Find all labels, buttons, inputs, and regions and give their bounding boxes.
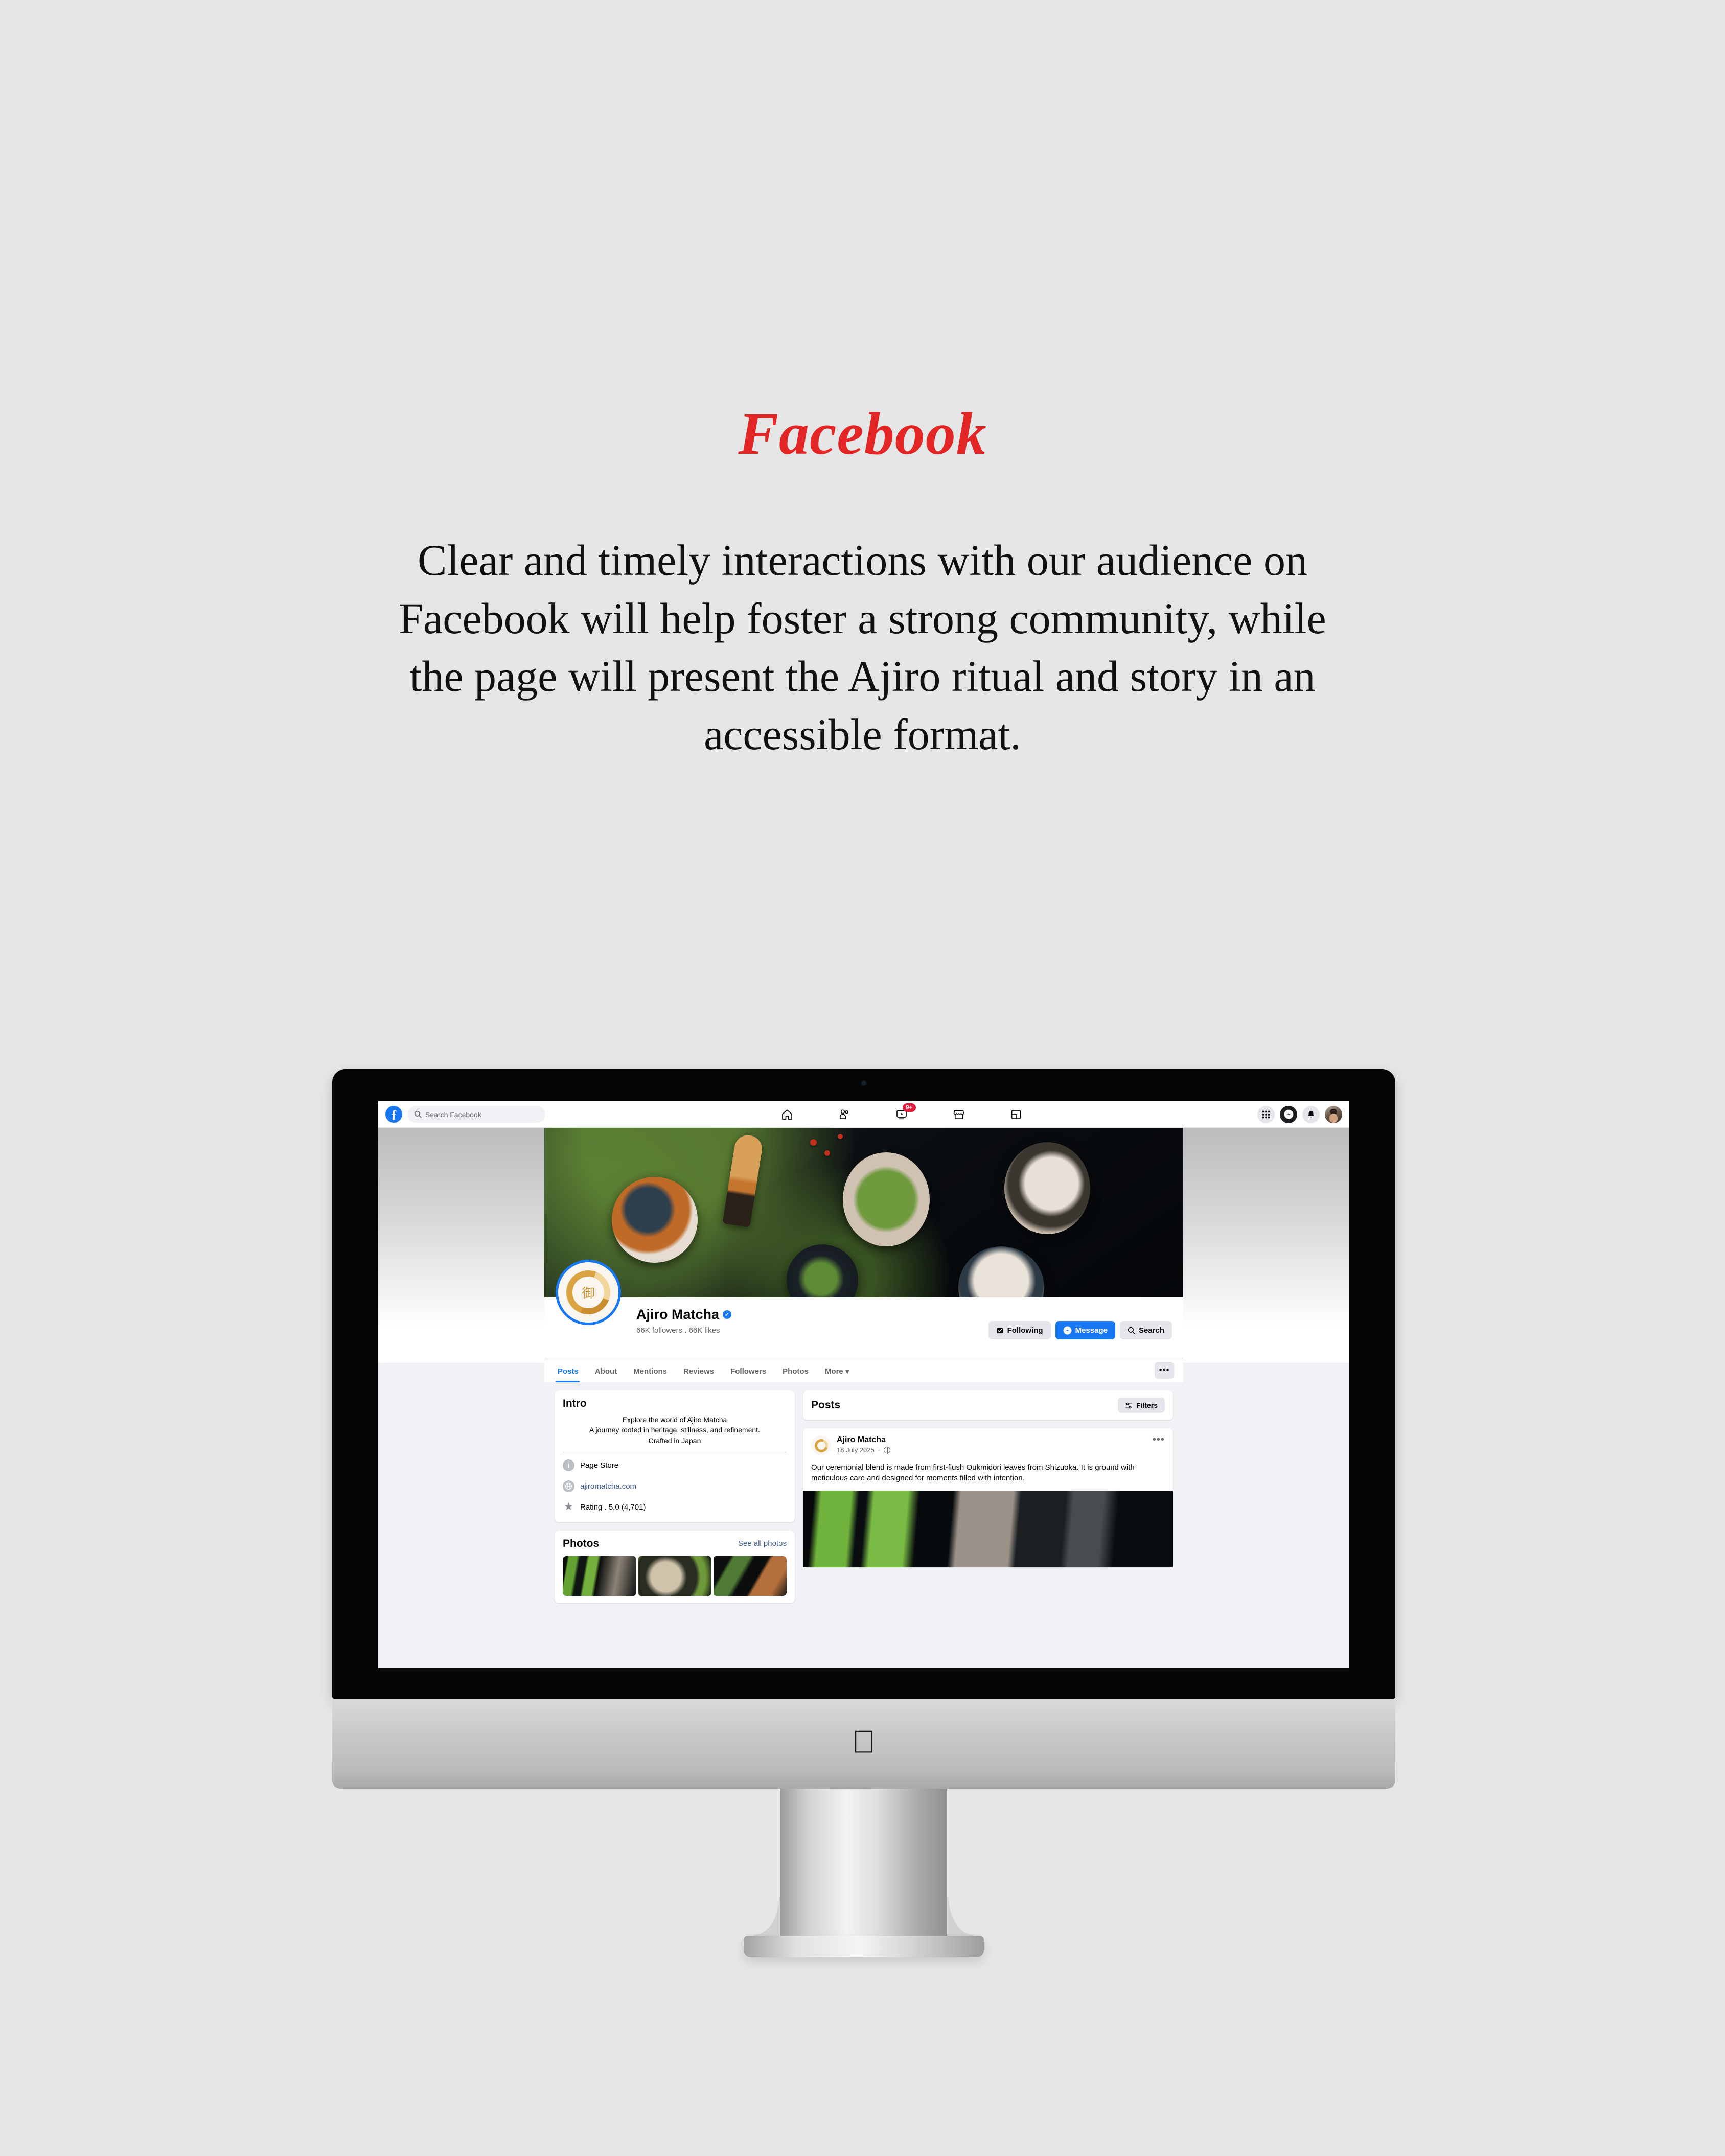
- cover-bowl: [612, 1177, 698, 1263]
- post-body-text: Our ceremonial blend is made from first-…: [811, 1462, 1165, 1484]
- nav-right-icons: [1257, 1106, 1342, 1123]
- intro-desc-line-2: A journey rooted in heritage, stillness,…: [563, 1425, 787, 1435]
- post-author-avatar[interactable]: [811, 1435, 831, 1455]
- marketplace-icon: [953, 1108, 965, 1121]
- tab-more[interactable]: More ▾: [817, 1366, 858, 1382]
- nav-groups-icon[interactable]: [1007, 1106, 1025, 1123]
- messenger-icon: [1063, 1326, 1072, 1335]
- tab-posts[interactable]: Posts: [556, 1367, 587, 1382]
- cover-bowl: [1004, 1142, 1090, 1234]
- check-badge-icon: [996, 1327, 1004, 1334]
- cover-photo[interactable]: [544, 1128, 1183, 1297]
- post-author-name[interactable]: Ajiro Matcha: [837, 1435, 890, 1445]
- following-button-label: Following: [1007, 1326, 1043, 1335]
- profile-actions: Following Message: [988, 1321, 1172, 1339]
- search-icon: [414, 1110, 422, 1118]
- page-columns: Intro Explore the world of Ajiro Matcha …: [544, 1382, 1183, 1611]
- post-meta: 18 July 2025 ·: [837, 1446, 890, 1454]
- left-column: Intro Explore the world of Ajiro Matcha …: [555, 1390, 795, 1611]
- intro-desc-line-3: Crafted in Japan: [563, 1435, 787, 1446]
- facebook-logo-icon[interactable]: f: [385, 1106, 402, 1123]
- photos-card: Photos See all photos: [555, 1531, 795, 1603]
- imac-mockup: f Search Facebook: [332, 1069, 1395, 1957]
- star-icon: ★: [563, 1501, 574, 1513]
- website-link[interactable]: ajiromatcha.com: [580, 1482, 636, 1491]
- search-page-button-label: Search: [1139, 1326, 1164, 1335]
- right-column: Posts Filte: [803, 1390, 1173, 1611]
- bell-icon: [1306, 1110, 1316, 1119]
- cover-berry: [838, 1134, 843, 1139]
- notifications-bell-icon[interactable]: [1302, 1106, 1320, 1123]
- photos-title: Photos: [563, 1538, 599, 1550]
- groups-icon: [1010, 1108, 1022, 1121]
- search-icon: [1128, 1327, 1135, 1334]
- nav-home-icon[interactable]: [778, 1106, 796, 1123]
- followers-likes-stats: 66K followers . 66K likes: [636, 1326, 731, 1335]
- imac-stand-base: [744, 1936, 984, 1957]
- body-copy-section: Clear and timely interactions with our a…: [382, 531, 1343, 763]
- verified-badge-icon: ✓: [723, 1310, 731, 1319]
- intro-page-store-text: Page Store: [580, 1461, 618, 1470]
- facebook-top-nav: f Search Facebook: [378, 1101, 1349, 1128]
- filters-button[interactable]: Filters: [1118, 1398, 1165, 1413]
- video-unread-badge: 9+: [903, 1103, 916, 1112]
- post-menu-ellipsis-icon[interactable]: •••: [1153, 1438, 1165, 1442]
- body-paragraph: Clear and timely interactions with our a…: [382, 531, 1343, 763]
- webcam-dot-icon: [861, 1080, 867, 1086]
- profile-name-block: Ajiro Matcha ✓ 66K followers . 66K likes: [636, 1307, 731, 1335]
- following-button[interactable]: Following: [988, 1321, 1051, 1339]
- messenger-bolt-icon: [1284, 1109, 1294, 1119]
- imac-chin: : [332, 1699, 1395, 1789]
- post-image[interactable]: [803, 1491, 1173, 1567]
- post-author-block: Ajiro Matcha 18 July 2025 ·: [837, 1435, 890, 1454]
- messenger-icon[interactable]: [1280, 1106, 1297, 1123]
- grid-dots-icon: [1261, 1110, 1271, 1119]
- menu-grid-icon[interactable]: [1257, 1106, 1275, 1123]
- intro-title: Intro: [563, 1398, 787, 1410]
- posts-panel-header: Posts Filte: [803, 1390, 1173, 1420]
- profile-header: Ajiro Matcha ✓ 66K followers . 66K likes: [544, 1297, 1183, 1358]
- nav-marketplace-icon[interactable]: [950, 1106, 968, 1123]
- nav-center-icons: 9+: [545, 1106, 1257, 1123]
- apple-logo-icon: : [852, 1727, 876, 1758]
- enso-logo-icon: [812, 1436, 830, 1454]
- nav-video-icon[interactable]: 9+: [893, 1106, 910, 1123]
- page-name-text: Ajiro Matcha: [636, 1307, 719, 1323]
- intro-row-rating: ★ Rating . 5.0 (4,701): [563, 1501, 787, 1513]
- cover-bowl: [843, 1152, 930, 1246]
- intro-divider: [563, 1452, 787, 1452]
- see-all-photos-link[interactable]: See all photos: [738, 1539, 787, 1548]
- photos-thumb-grid: [563, 1556, 787, 1596]
- post-privacy-globe-icon: ·: [878, 1446, 880, 1454]
- slide-root: Facebook Clear and timely interactions w…: [0, 0, 1725, 2156]
- facebook-logo-letter: f: [392, 1109, 396, 1123]
- photo-thumbnail[interactable]: [638, 1556, 711, 1596]
- intro-row-website[interactable]: ajiromatcha.com: [563, 1480, 787, 1492]
- posts-title: Posts: [811, 1399, 840, 1411]
- facebook-page-body: Ajiro Matcha ✓ 66K followers . 66K likes: [378, 1128, 1349, 1668]
- cover-berry: [810, 1139, 817, 1146]
- page-title: Facebook: [0, 404, 1725, 464]
- tab-photos[interactable]: Photos: [774, 1367, 817, 1382]
- page-name-row: Ajiro Matcha ✓: [636, 1307, 731, 1323]
- intro-desc-line-1: Explore the world of Ajiro Matcha: [563, 1415, 787, 1425]
- search-placeholder: Search Facebook: [425, 1110, 481, 1119]
- profile-tabs: Posts About Mentions Reviews Followers P…: [544, 1358, 1183, 1382]
- search-page-button[interactable]: Search: [1120, 1321, 1172, 1339]
- intro-description: Explore the world of Ajiro Matcha A jour…: [563, 1415, 787, 1446]
- enso-logo-icon: [559, 1263, 617, 1322]
- globe-glyph: [565, 1482, 572, 1490]
- message-button[interactable]: Message: [1055, 1321, 1115, 1339]
- account-avatar[interactable]: [1325, 1106, 1342, 1123]
- headline-section: Facebook: [0, 404, 1725, 464]
- rating-text: Rating . 5.0 (4,701): [580, 1503, 646, 1512]
- imac-bezel: f Search Facebook: [332, 1069, 1395, 1699]
- photo-thumbnail[interactable]: [714, 1556, 787, 1596]
- posts-bar: Posts Filte: [811, 1398, 1165, 1413]
- photos-card-header: Photos See all photos: [563, 1538, 787, 1550]
- tabs-overflow-icon[interactable]: •••: [1155, 1362, 1174, 1379]
- home-icon: [781, 1108, 793, 1121]
- globe-icon: [563, 1480, 574, 1492]
- globe-icon: [884, 1447, 890, 1453]
- photo-thumbnail[interactable]: [563, 1556, 636, 1596]
- intro-card: Intro Explore the world of Ajiro Matcha …: [555, 1390, 795, 1522]
- cover-berry: [824, 1150, 830, 1156]
- search-input[interactable]: Search Facebook: [407, 1106, 545, 1123]
- tab-mentions[interactable]: Mentions: [625, 1367, 675, 1382]
- post-date: 18 July 2025: [837, 1446, 875, 1454]
- filters-label: Filters: [1136, 1401, 1158, 1409]
- page-shell: Ajiro Matcha ✓ 66K followers . 66K likes: [544, 1128, 1183, 1611]
- post-header: Ajiro Matcha 18 July 2025 · •••: [811, 1435, 1165, 1455]
- message-button-label: Message: [1075, 1326, 1108, 1335]
- screen-content: f Search Facebook: [378, 1101, 1349, 1668]
- intro-row-page-store: i Page Store: [563, 1459, 787, 1471]
- profile-avatar[interactable]: [556, 1260, 621, 1325]
- friends-icon: [838, 1108, 850, 1121]
- tab-reviews[interactable]: Reviews: [675, 1367, 722, 1382]
- tab-about[interactable]: About: [587, 1367, 625, 1382]
- imac-stand-neck: [780, 1789, 947, 1937]
- nav-friends-icon[interactable]: [836, 1106, 853, 1123]
- tab-followers[interactable]: Followers: [722, 1367, 774, 1382]
- post-card: Ajiro Matcha 18 July 2025 · •••: [803, 1428, 1173, 1567]
- info-icon: i: [563, 1459, 574, 1471]
- sliders-icon: [1125, 1402, 1133, 1409]
